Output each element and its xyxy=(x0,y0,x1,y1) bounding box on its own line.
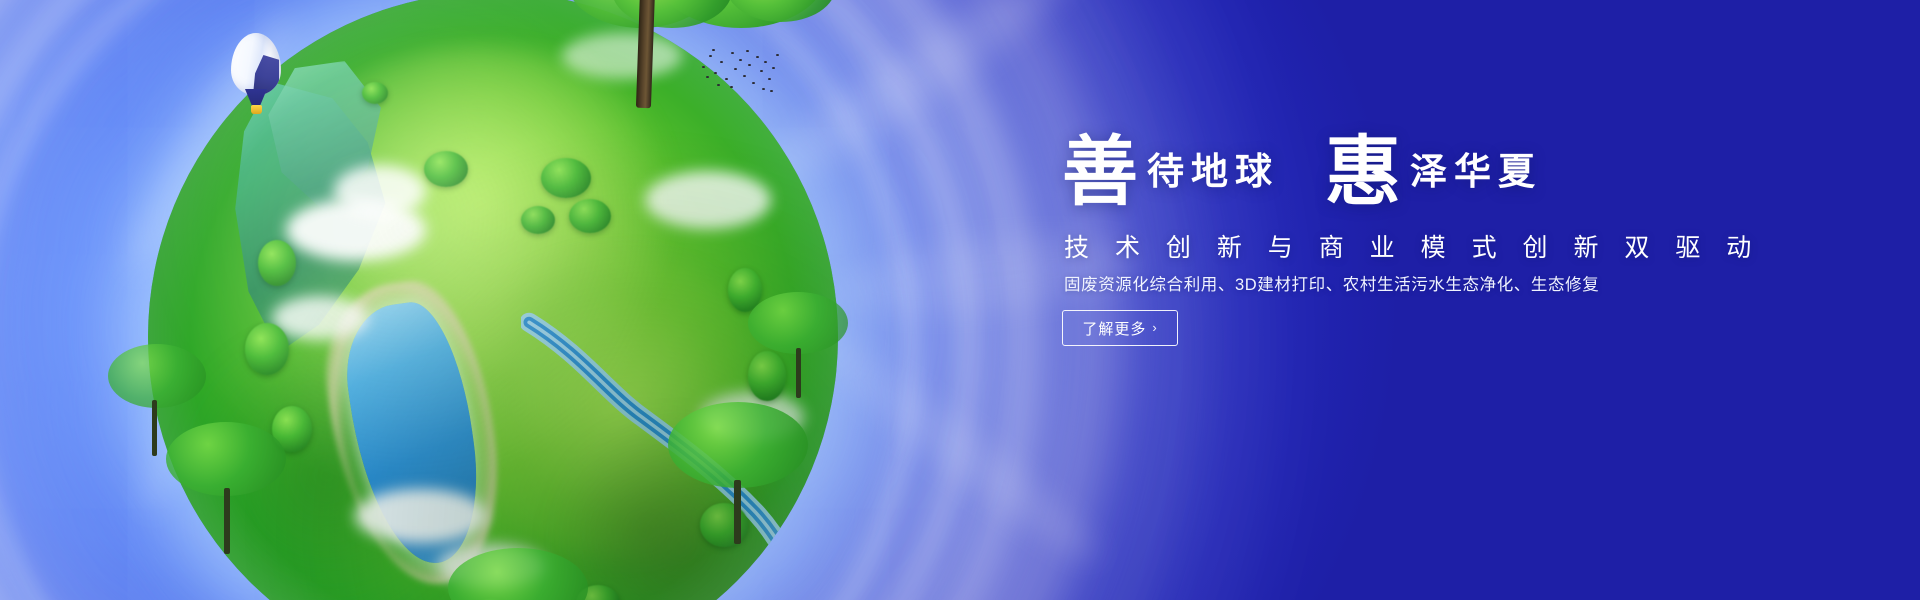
hero-headline: 善待地球惠泽华夏 xyxy=(1062,134,1542,210)
learn-more-button[interactable]: 了解更多 › xyxy=(1062,310,1178,346)
rim-tree xyxy=(748,292,858,402)
balloon-envelope xyxy=(231,33,281,95)
rim-tree xyxy=(448,548,598,600)
hero-banner: 善待地球惠泽华夏 技 术 创 新 与 商 业 模 式 创 新 双 驱 动 固废资… xyxy=(0,0,1920,600)
headline-text-daidiqiu: 待地球 xyxy=(1147,149,1279,193)
headline-text-zehuaxia: 泽华夏 xyxy=(1410,149,1542,193)
tree-trunk xyxy=(636,0,655,108)
hero-content: 善待地球惠泽华夏 技 术 创 新 与 商 业 模 式 创 新 双 驱 动 固废资… xyxy=(1062,0,1822,600)
rim-tree xyxy=(668,402,818,552)
chevron-right-icon: › xyxy=(1152,320,1157,335)
large-tree-icon xyxy=(546,0,846,140)
hot-air-balloon-icon xyxy=(231,33,281,119)
learn-more-label: 了解更多 xyxy=(1082,318,1146,339)
bird-flock-icon xyxy=(700,48,780,94)
rim-tree xyxy=(166,422,296,562)
headline-char-shan: 善 xyxy=(1062,127,1138,216)
hero-subtitle: 技 术 创 新 与 商 业 模 式 创 新 双 驱 动 xyxy=(1064,228,1761,264)
hero-description: 固废资源化综合利用、3D建材打印、农村生活污水生态净化、生态修复 xyxy=(1064,271,1599,295)
balloon-basket xyxy=(251,105,262,114)
headline-char-hui: 惠 xyxy=(1325,127,1401,216)
